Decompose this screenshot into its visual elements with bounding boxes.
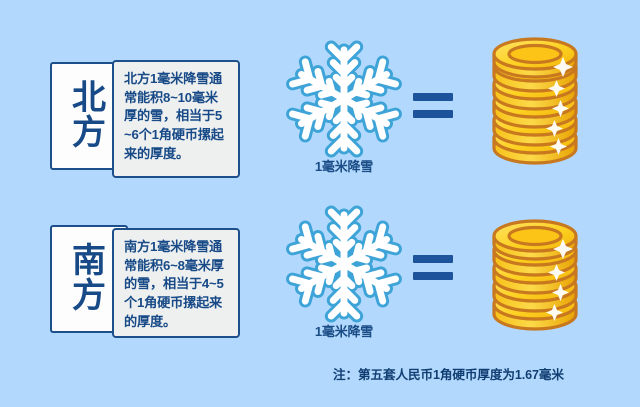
equals-bar-top [413, 255, 453, 263]
region-label-south: 南方 [69, 244, 109, 313]
equals-sign-south [413, 255, 453, 280]
snowflake-group-north: 1毫米降雪 [283, 40, 405, 175]
coin-stack-south [482, 212, 588, 339]
snowflake-group-south: 1毫米降雪 [283, 205, 405, 340]
description-card-south: 南方1毫米降雪通常能积6~8毫米厚的雪，相当于4~5个1角硬币摞起来的厚度。 [112, 228, 240, 338]
snowflake-icon [283, 205, 405, 323]
description-text-south: 南方1毫米降雪通常能积6~8毫米厚的雪，相当于4~5个1角硬币摞起来的厚度。 [124, 238, 229, 332]
footnote-text: 注：第五套人民币1角硬币厚度为1.67毫米 [333, 364, 564, 383]
infographic-canvas: 北方 北方1毫米降雪通常能积8~10毫米厚的雪，相当于5~6个1角硬币摞起来的厚… [0, 0, 640, 407]
snowflake-label-north: 1毫米降雪 [283, 156, 405, 175]
coin-stack-icon [482, 212, 588, 334]
equals-bar-bottom [413, 110, 453, 118]
description-card-north: 北方1毫米降雪通常能积8~10毫米厚的雪，相当于5~6个1角硬币摞起来的厚度。 [112, 60, 240, 178]
coin-stack-north [482, 34, 588, 173]
equals-sign-north [413, 93, 453, 118]
snowflake-label-south: 1毫米降雪 [283, 321, 405, 340]
equals-bar-bottom [413, 272, 453, 280]
snowflake-icon [283, 40, 405, 158]
region-label-north: 北方 [69, 81, 109, 150]
equals-bar-top [413, 93, 453, 101]
coin-stack-icon [482, 34, 588, 168]
description-text-north: 北方1毫米降雪通常能积8~10毫米厚的雪，相当于5~6个1角硬币摞起来的厚度。 [124, 70, 229, 164]
